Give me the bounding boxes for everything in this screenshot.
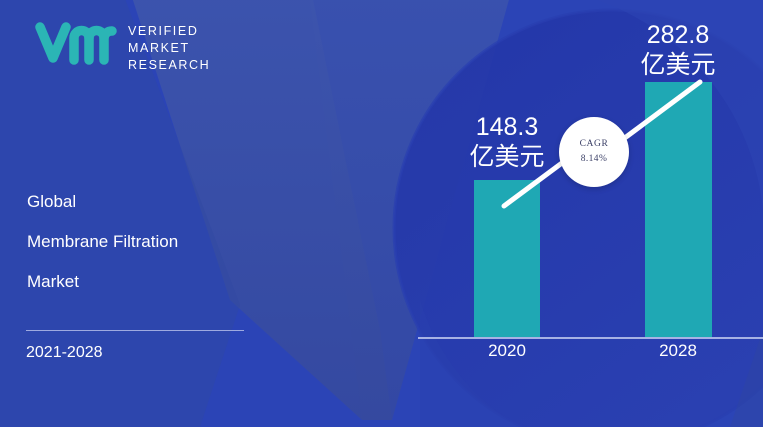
bar-2028	[645, 82, 712, 337]
x-axis-label-2020: 2020	[452, 341, 562, 361]
bar-value-2028: 282.8 亿美元	[622, 20, 734, 80]
bar-value-unit-2028: 亿美元	[622, 50, 734, 80]
bar-value-number-2028: 282.8	[622, 20, 734, 50]
bar-2020	[474, 180, 540, 337]
cagr-badge: CAGR 8.14%	[559, 117, 629, 187]
bar-chart: 148.3 亿美元 282.8 亿美元 2020 2028 CAGR 8.14%	[0, 0, 763, 427]
chart-axis-line	[418, 337, 763, 339]
x-axis-label-2028: 2028	[622, 341, 734, 361]
bar-value-2020: 148.3 亿美元	[452, 112, 562, 172]
cagr-value: 8.14%	[581, 152, 608, 167]
bar-value-number-2020: 148.3	[452, 112, 562, 142]
infographic-slide: VERIFIED MARKET RESEARCH Global Membrane…	[0, 0, 763, 427]
bar-value-unit-2020: 亿美元	[452, 142, 562, 172]
cagr-label: CAGR	[580, 137, 609, 152]
